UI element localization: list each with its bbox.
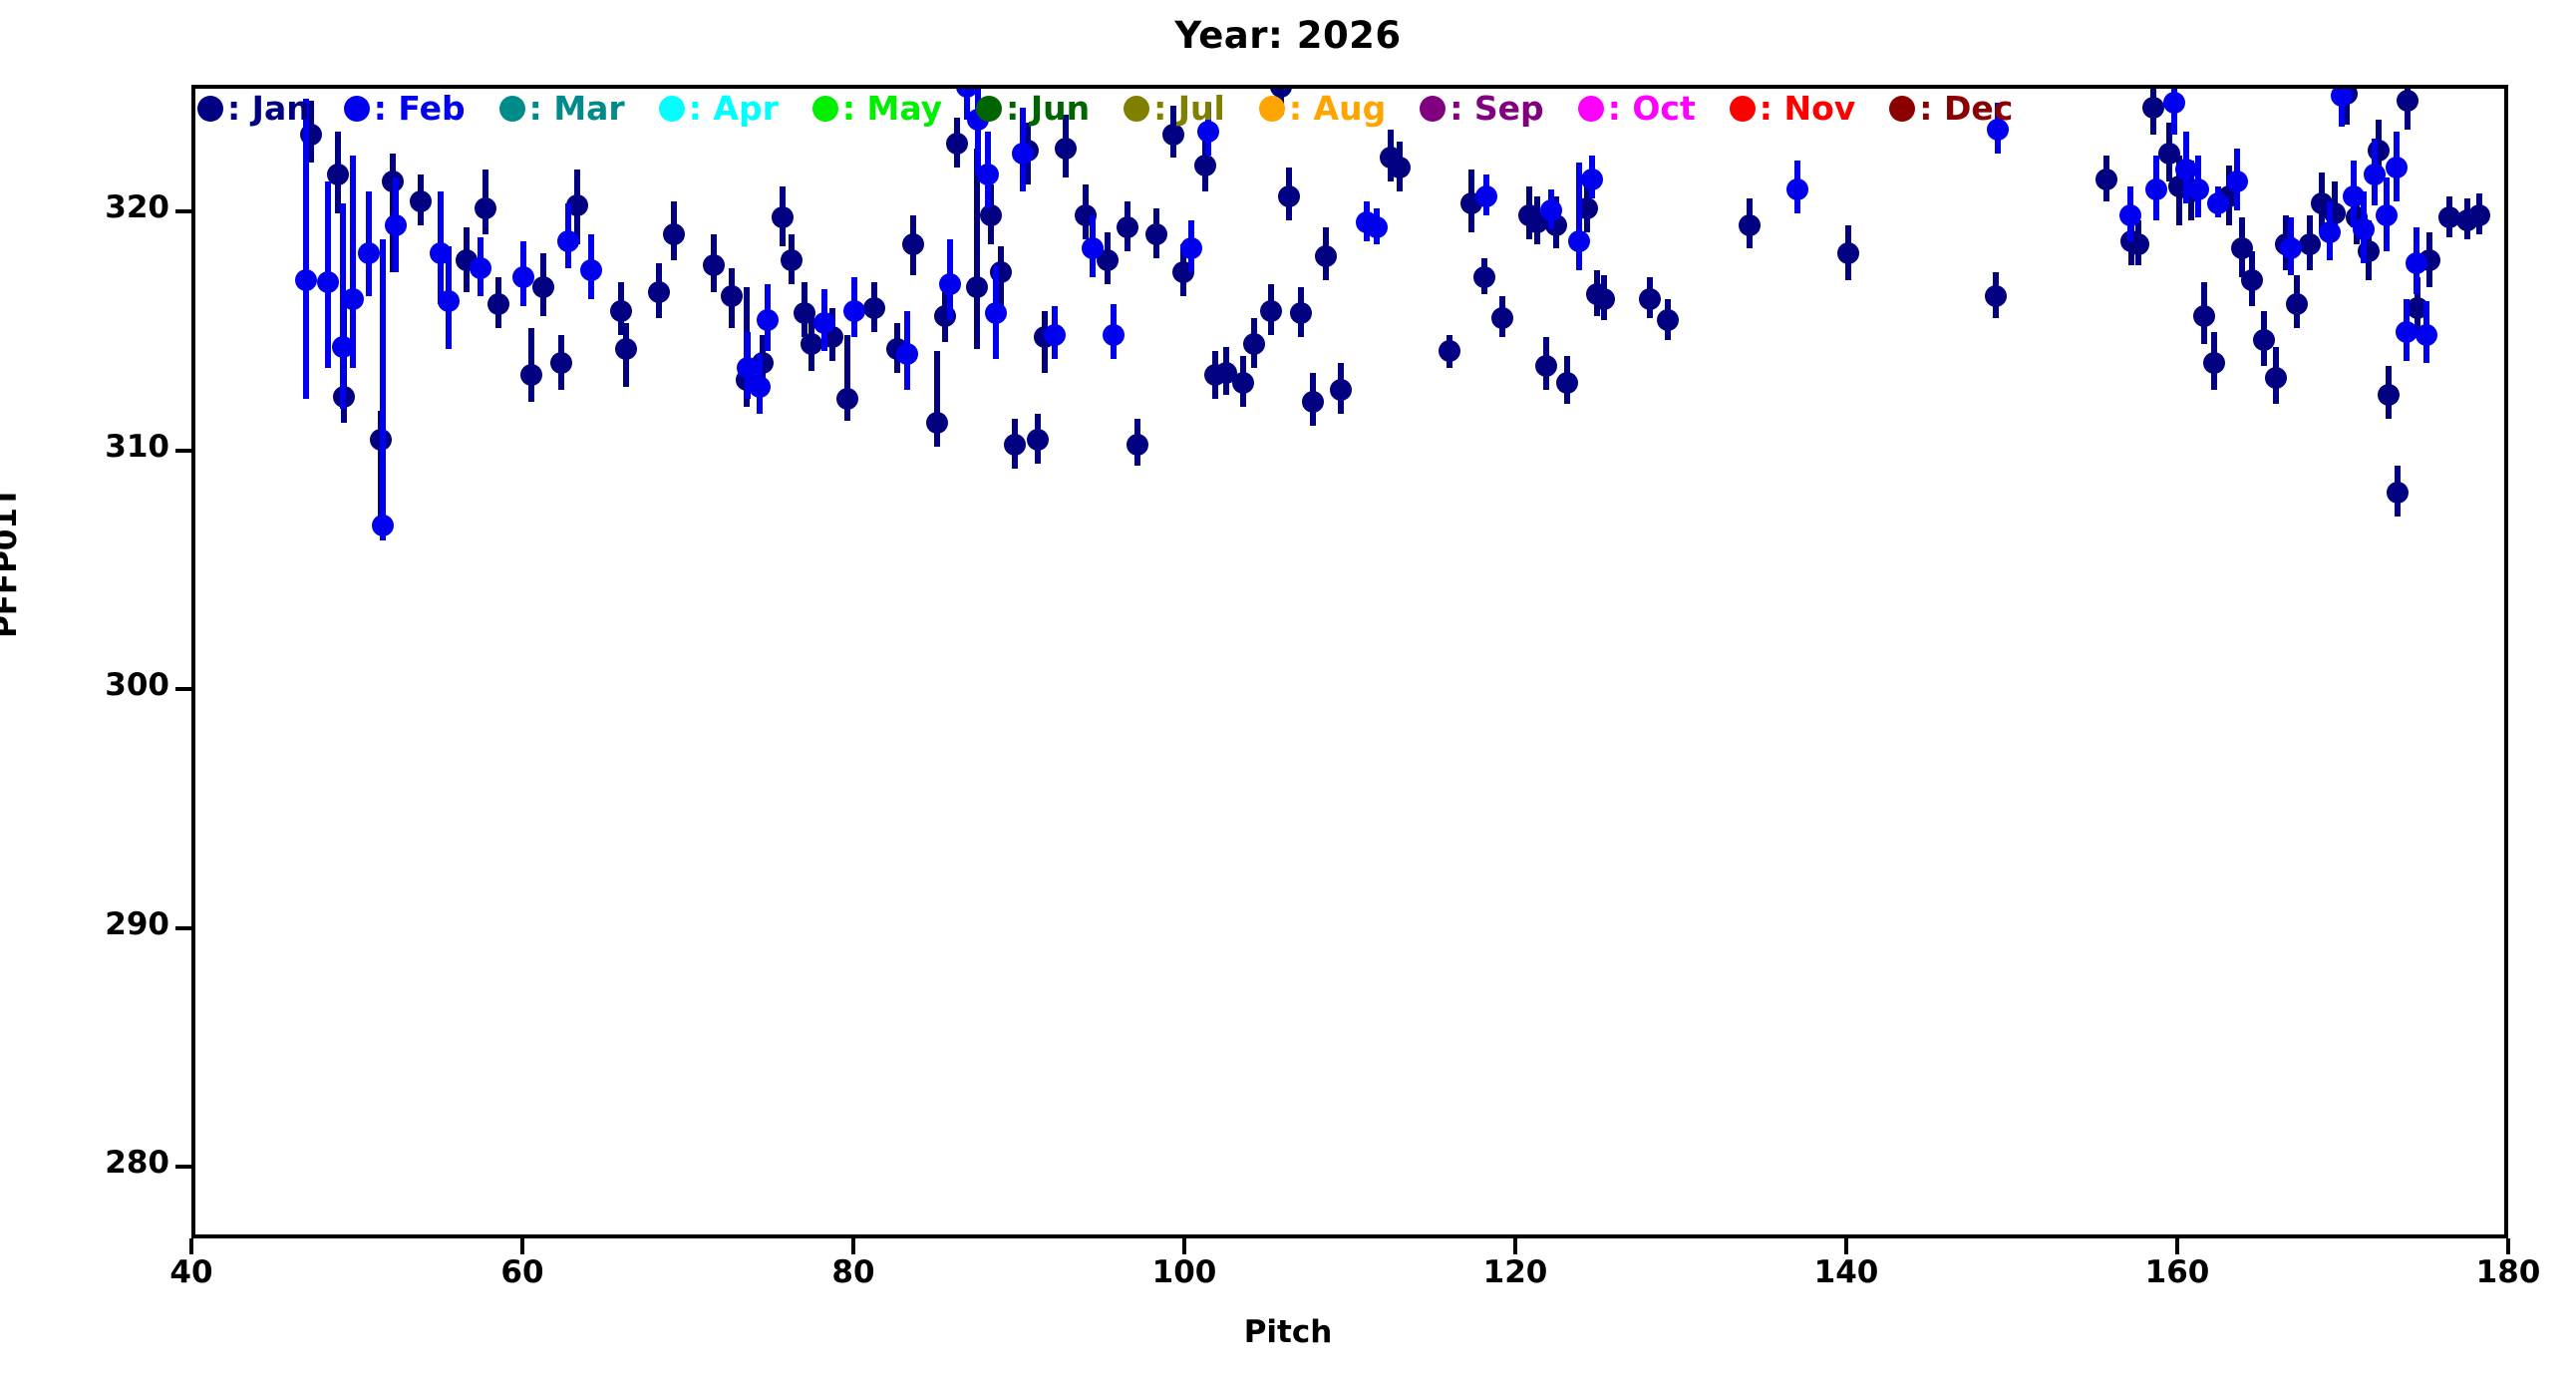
data-point	[2265, 367, 2287, 389]
data-point	[1389, 157, 1411, 178]
y-tick-mark	[175, 926, 191, 930]
data-point	[1232, 372, 1254, 394]
x-tick-label: 180	[2476, 1254, 2541, 1290]
y-tick-label: 280	[60, 1145, 169, 1181]
data-point	[2187, 178, 2209, 200]
data-point	[946, 133, 968, 155]
data-point	[1556, 372, 1578, 394]
data-point	[1315, 245, 1337, 267]
data-point	[1985, 285, 2007, 307]
plot-area	[191, 85, 2508, 1238]
data-point	[896, 343, 918, 365]
data-point	[1366, 216, 1388, 238]
y-tick-label: 310	[60, 429, 169, 465]
data-point	[863, 297, 885, 319]
data-point	[520, 364, 542, 386]
x-tick-mark	[520, 1238, 524, 1254]
data-point	[1739, 214, 1761, 236]
x-tick-label: 80	[831, 1254, 874, 1290]
data-point	[2241, 269, 2263, 291]
data-point	[813, 312, 835, 334]
data-point	[2119, 204, 2141, 226]
data-point	[648, 281, 670, 303]
data-point	[2095, 169, 2117, 190]
data-point	[757, 309, 779, 331]
data-point	[1044, 324, 1066, 346]
data-point	[2142, 97, 2164, 119]
data-point	[966, 276, 988, 298]
data-point	[438, 290, 460, 312]
data-point	[1290, 302, 1312, 324]
data-point	[2203, 352, 2225, 374]
data-point	[2226, 171, 2248, 192]
y-tick-label: 290	[60, 906, 169, 942]
data-point	[2286, 293, 2308, 315]
data-point	[410, 190, 432, 212]
x-tick-mark	[2175, 1238, 2179, 1254]
data-point	[512, 266, 534, 288]
data-point	[781, 249, 803, 271]
data-point	[475, 197, 496, 219]
x-tick-label: 40	[169, 1254, 212, 1290]
data-point	[550, 352, 572, 374]
data-point	[1987, 119, 2009, 141]
x-tick-label: 100	[1152, 1254, 1217, 1290]
data-point	[703, 254, 725, 276]
data-point	[2280, 237, 2302, 259]
data-point	[721, 285, 743, 307]
data-point	[2299, 233, 2321, 255]
x-tick-mark	[1844, 1238, 1848, 1254]
data-point	[372, 515, 394, 536]
data-point	[902, 233, 924, 255]
data-point	[2386, 157, 2408, 178]
data-point	[749, 376, 771, 398]
data-point	[1593, 288, 1615, 310]
data-point	[2415, 324, 2437, 346]
y-tick-label: 320	[60, 189, 169, 225]
data-point	[985, 302, 1007, 324]
data-point	[2319, 221, 2341, 243]
data-point	[2397, 90, 2418, 112]
data-point	[2378, 384, 2400, 406]
y-tick-mark	[175, 687, 191, 691]
data-point	[2368, 140, 2390, 162]
data-point	[1180, 237, 1202, 259]
data-point	[532, 276, 554, 298]
data-point	[2353, 218, 2375, 240]
data-point	[1162, 124, 1184, 146]
data-point	[939, 273, 961, 295]
data-point	[1581, 169, 1603, 190]
data-point	[926, 412, 948, 434]
data-point	[385, 214, 407, 236]
data-point	[1278, 185, 1300, 207]
data-point	[1535, 355, 1557, 377]
data-point	[2406, 252, 2427, 274]
data-point	[1786, 178, 1808, 200]
data-point	[2376, 204, 2398, 226]
x-tick-mark	[1182, 1238, 1186, 1254]
data-point	[1145, 223, 1167, 245]
data-point	[1012, 143, 1034, 165]
data-point	[1127, 434, 1148, 456]
data-point	[358, 242, 380, 264]
data-point	[1117, 216, 1138, 238]
data-point	[1194, 155, 1216, 176]
page-title: Year: 2026	[0, 14, 2576, 57]
data-point	[1027, 429, 1049, 451]
y-tick-mark	[175, 449, 191, 453]
x-tick-label: 160	[2145, 1254, 2210, 1290]
data-point	[557, 230, 579, 252]
data-point	[843, 300, 865, 322]
chart-figure: Year: 2026 PFFP01T Pitch 280290300310320…	[0, 0, 2576, 1387]
x-tick-label: 140	[1814, 1254, 1879, 1290]
y-tick-mark	[175, 1165, 191, 1169]
x-tick-mark	[189, 1238, 193, 1254]
data-point	[610, 300, 632, 322]
error-bar	[350, 156, 356, 368]
x-tick-mark	[1513, 1238, 1517, 1254]
data-point	[772, 206, 794, 228]
data-point	[1491, 307, 1513, 329]
data-point	[980, 204, 1002, 226]
data-point	[1439, 340, 1460, 362]
data-point	[1302, 391, 1324, 413]
data-point	[342, 288, 364, 310]
data-point	[801, 333, 822, 355]
data-point	[1260, 300, 1282, 322]
data-point	[977, 164, 999, 185]
data-point	[1568, 230, 1590, 252]
data-point	[1473, 266, 1495, 288]
y-tick-label: 300	[60, 667, 169, 703]
data-point	[1243, 333, 1265, 355]
error-bar	[303, 99, 309, 400]
x-tick-label: 60	[500, 1254, 543, 1290]
y-axis-label: PFFP01T	[0, 487, 24, 638]
data-point	[663, 223, 685, 245]
data-point	[1639, 288, 1661, 310]
x-tick-label: 120	[1483, 1254, 1548, 1290]
data-point	[580, 259, 602, 281]
data-point	[2145, 178, 2167, 200]
data-point	[836, 388, 858, 410]
data-layer	[195, 89, 2504, 1234]
data-point	[295, 269, 317, 291]
data-point	[2163, 92, 2185, 114]
data-point	[1330, 379, 1352, 401]
data-point	[1197, 121, 1219, 143]
data-point	[1270, 85, 1292, 98]
data-point	[1837, 242, 1859, 264]
data-point	[317, 271, 339, 293]
data-point	[615, 338, 637, 360]
data-point	[1103, 324, 1125, 346]
data-point	[2193, 305, 2215, 327]
data-point	[2207, 192, 2229, 214]
data-point	[967, 109, 989, 131]
data-point	[1055, 138, 1077, 160]
data-point	[2468, 204, 2490, 226]
x-tick-mark	[851, 1238, 855, 1254]
data-point	[1475, 185, 1497, 207]
data-point	[470, 257, 491, 279]
data-point	[1004, 434, 1026, 456]
error-bar	[380, 239, 386, 540]
data-point	[2396, 321, 2417, 343]
x-tick-mark	[2506, 1238, 2510, 1254]
x-axis-label: Pitch	[0, 1314, 2576, 1350]
y-tick-mark	[175, 209, 191, 213]
data-point	[487, 293, 509, 315]
data-point	[1657, 309, 1679, 331]
data-point	[2387, 482, 2409, 504]
data-point	[1540, 199, 1562, 221]
